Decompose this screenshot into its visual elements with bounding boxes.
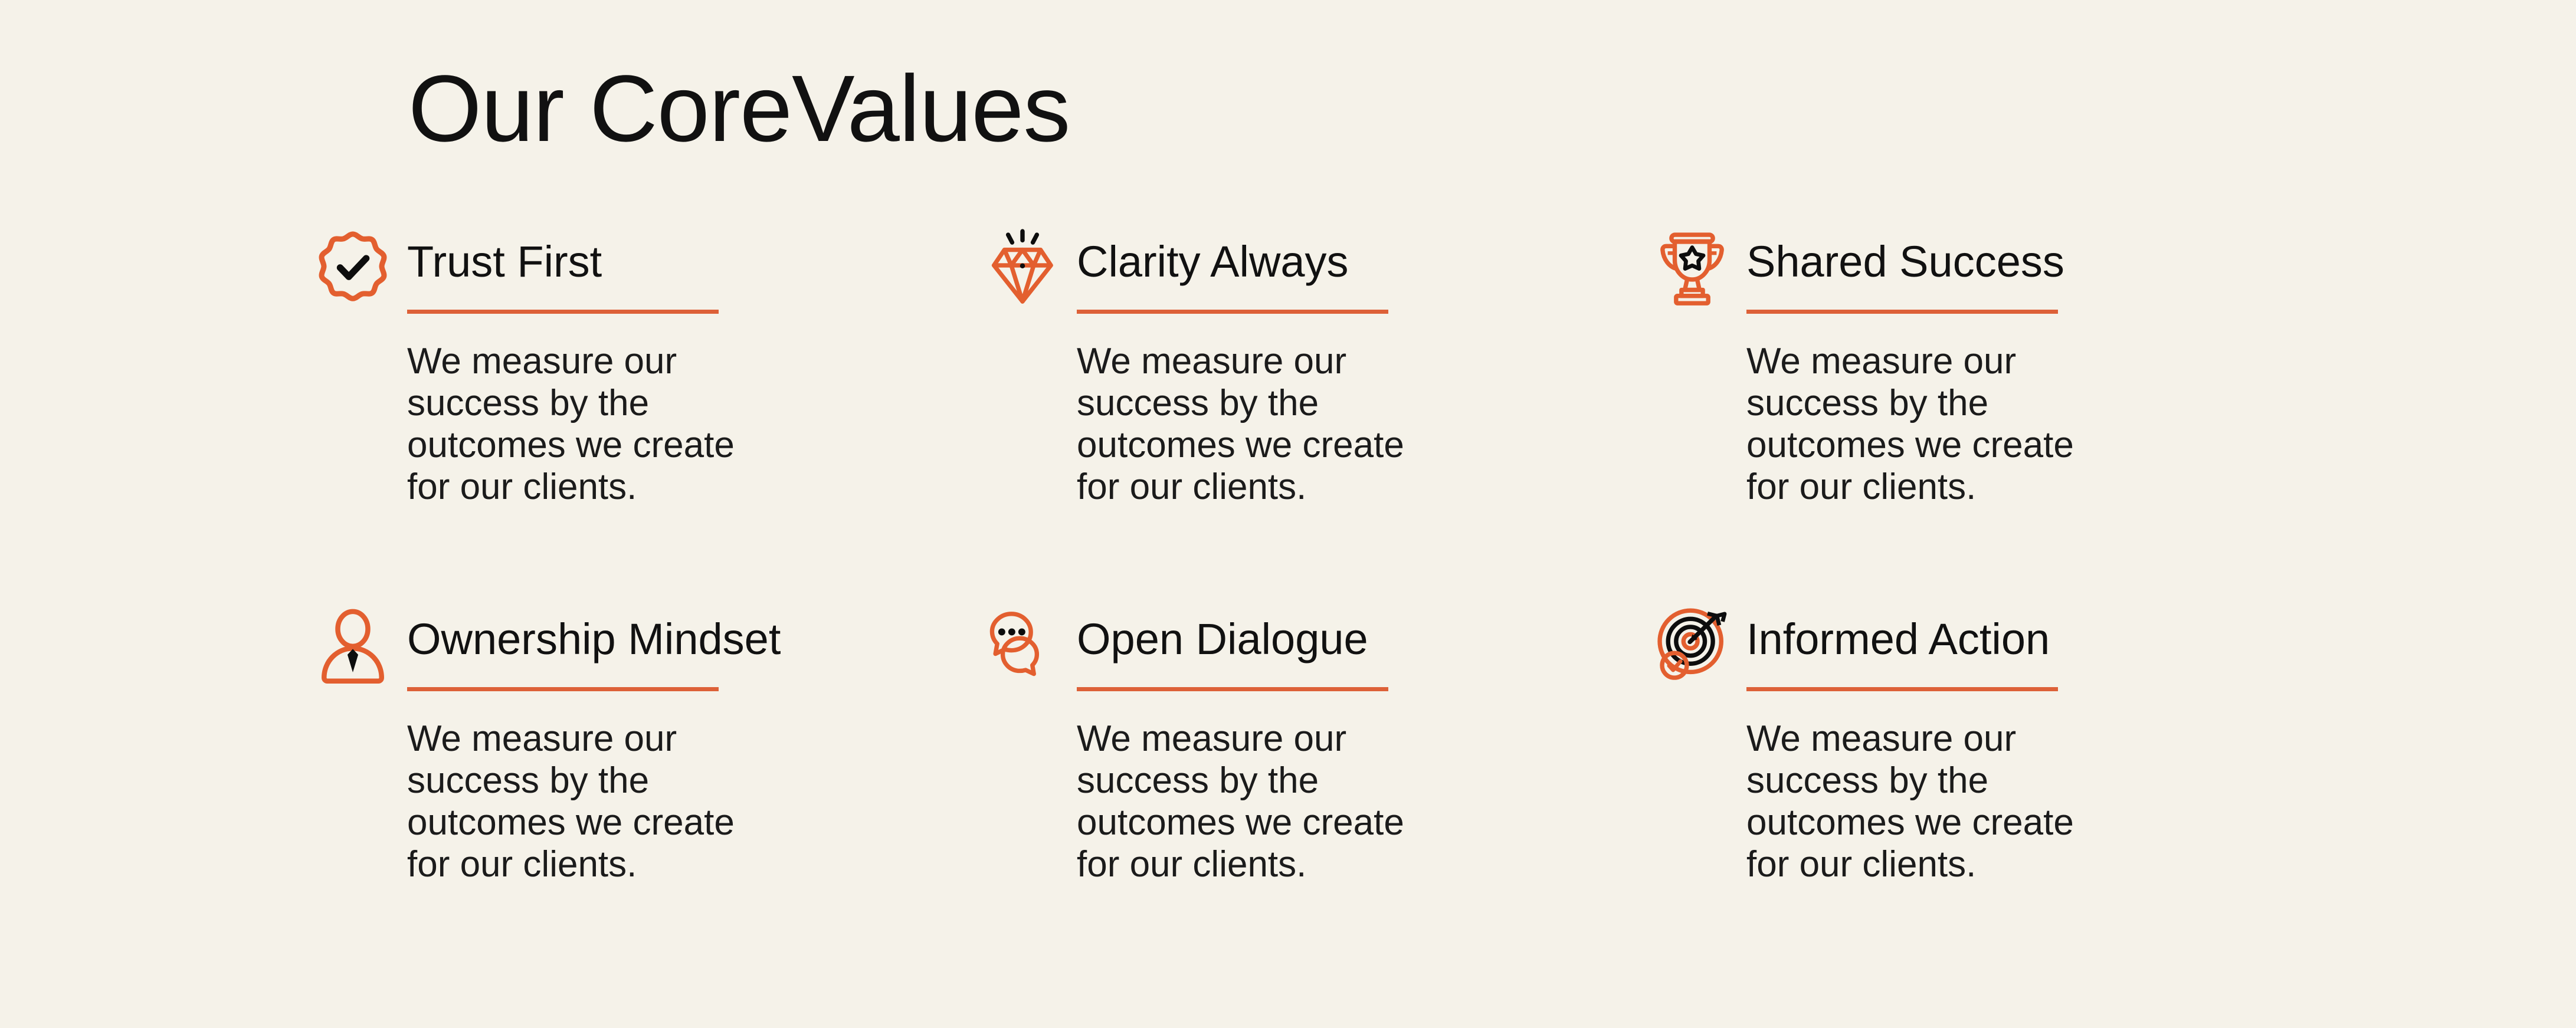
card-header: Open Dialogue: [982, 605, 1652, 708]
slide-canvas: Our CoreValues Trust First We measure ou…: [0, 0, 2576, 1028]
title-underline: [1746, 310, 2058, 314]
card-header: Clarity Always: [982, 227, 1652, 330]
core-values-grid: Trust First We measure our success by th…: [313, 227, 2260, 982]
value-card-shared-success[interactable]: Shared Success We measure our success by…: [1652, 227, 2322, 605]
badge-check-icon: [313, 227, 393, 307]
value-description: We measure our success by the outcomes w…: [1077, 718, 1419, 885]
value-title: Trust First: [407, 240, 602, 284]
trophy-star-icon: [1652, 227, 1732, 307]
value-description: We measure our success by the outcomes w…: [1077, 340, 1419, 508]
value-title: Open Dialogue: [1077, 618, 1368, 661]
value-card-informed-action[interactable]: Informed Action We measure our success b…: [1652, 605, 2322, 982]
title-underline: [1077, 687, 1388, 691]
value-description: We measure our success by the outcomes w…: [407, 718, 749, 885]
value-description: We measure our success by the outcomes w…: [1746, 718, 2089, 885]
value-description: We measure our success by the outcomes w…: [407, 340, 749, 508]
card-header: Shared Success: [1652, 227, 2322, 330]
value-title: Shared Success: [1746, 240, 2064, 284]
card-header: Trust First: [313, 227, 982, 330]
title-underline: [407, 687, 719, 691]
card-header: Ownership Mindset: [313, 605, 982, 708]
title-underline: [1746, 687, 2058, 691]
diamond-sparkle-icon: [982, 227, 1063, 307]
person-tie-icon: [313, 605, 393, 685]
value-title: Informed Action: [1746, 618, 2050, 661]
speech-bubbles-dots-icon: [982, 605, 1063, 685]
value-card-clarity-always[interactable]: Clarity Always We measure our success by…: [982, 227, 1652, 605]
target-arrow-check-icon: [1652, 605, 1732, 685]
value-card-ownership-mindset[interactable]: Ownership Mindset We measure our success…: [313, 605, 982, 982]
value-title: Ownership Mindset: [407, 618, 781, 661]
title-underline: [407, 310, 719, 314]
value-title: Clarity Always: [1077, 240, 1349, 284]
value-card-trust-first[interactable]: Trust First We measure our success by th…: [313, 227, 982, 605]
page-title: Our CoreValues: [408, 61, 1070, 156]
title-underline: [1077, 310, 1388, 314]
value-description: We measure our success by the outcomes w…: [1746, 340, 2089, 508]
card-header: Informed Action: [1652, 605, 2322, 708]
value-card-open-dialogue[interactable]: Open Dialogue We measure our success by …: [982, 605, 1652, 982]
